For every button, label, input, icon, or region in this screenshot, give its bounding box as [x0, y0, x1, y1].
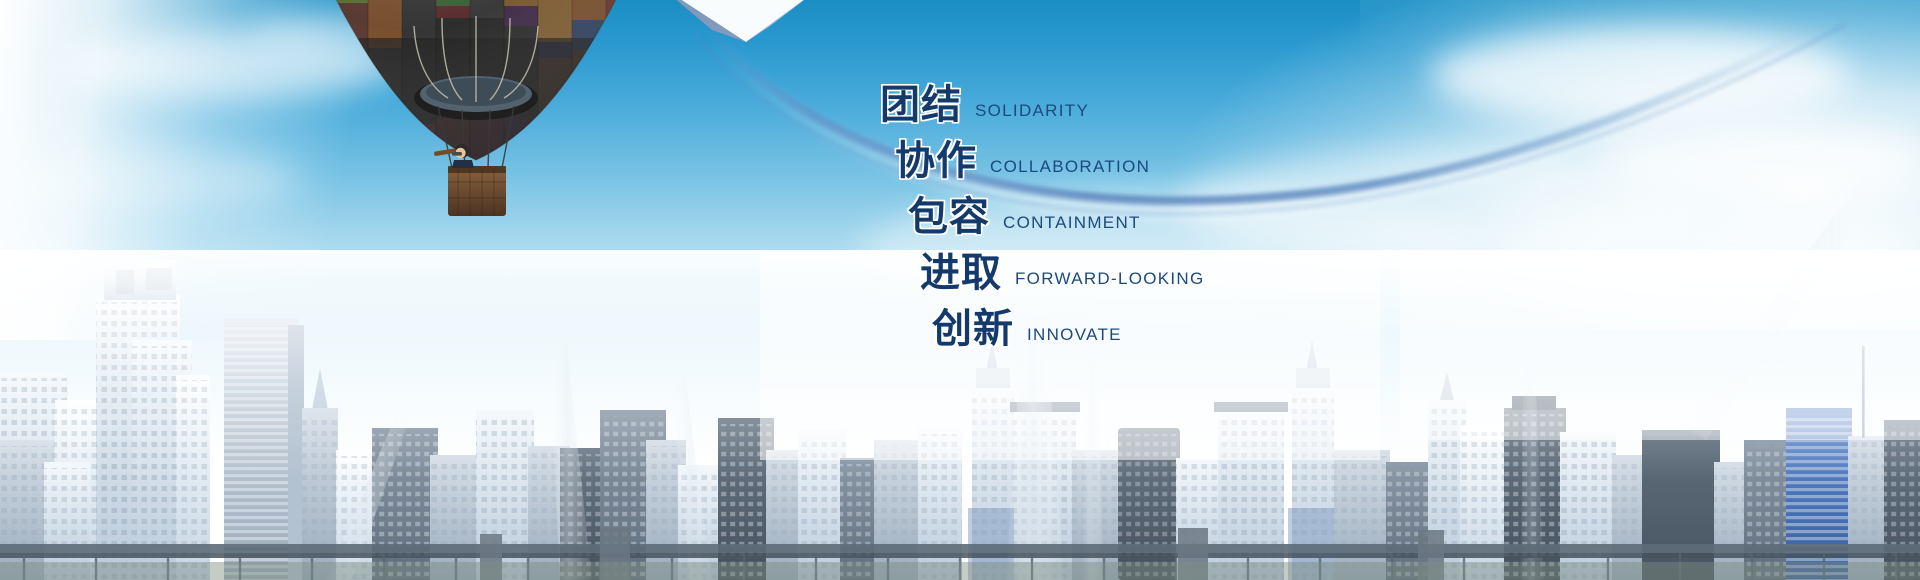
slogan-cn-text: 包容: [908, 184, 990, 242]
slogan-item-containment: 包容 CONTAINMENT: [908, 184, 1141, 242]
slogan-cn-text: 团结: [880, 72, 962, 130]
slogan-cn-text: 协作: [895, 128, 977, 186]
slogan-en-text: COLLABORATION: [990, 157, 1150, 177]
slogan-en-text: INNOVATE: [1027, 325, 1122, 345]
slogan-en-text: CONTAINMENT: [1003, 213, 1141, 233]
slogan-cn-text: 进取: [920, 240, 1002, 298]
slogan-cn-text: 创新: [932, 296, 1014, 354]
slogan-item-collaboration: 协作 COLLABORATION: [895, 128, 1150, 186]
slogan-en-text: FORWARD-LOOKING: [1015, 269, 1205, 289]
slogan-list: 团结 SOLIDARITY 协作 COLLABORATION 包容 CONTAI…: [860, 60, 1560, 380]
slogan-en-text: SOLIDARITY: [975, 101, 1089, 121]
corporate-culture-banner: 团结 SOLIDARITY 协作 COLLABORATION 包容 CONTAI…: [0, 0, 1920, 580]
slogan-item-innovate: 创新 INNOVATE: [932, 296, 1122, 354]
slogan-item-forward-looking: 进取 FORWARD-LOOKING: [920, 240, 1205, 298]
slogan-item-solidarity: 团结 SOLIDARITY: [880, 72, 1089, 130]
